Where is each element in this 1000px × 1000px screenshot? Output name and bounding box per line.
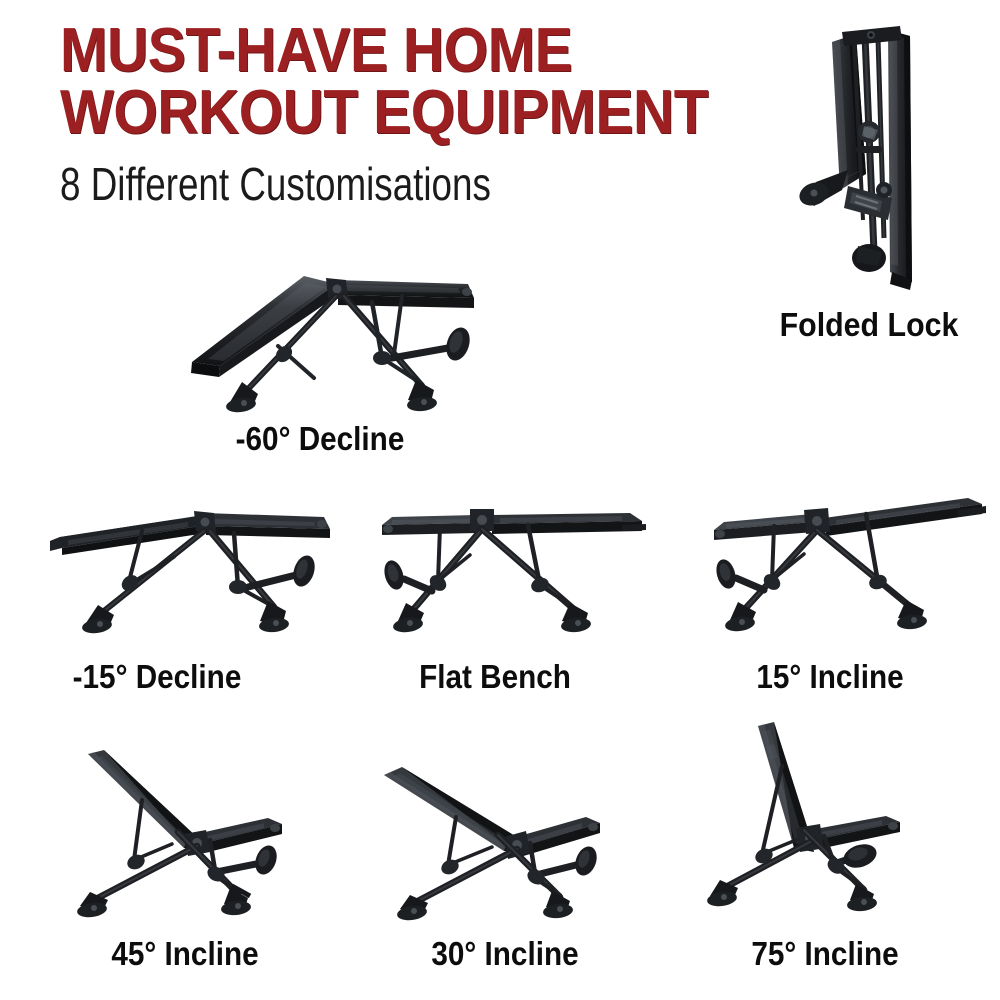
caption-folded-lock: Folded Lock bbox=[748, 306, 989, 344]
foot-left bbox=[392, 603, 424, 634]
folded-lock-illustration bbox=[770, 14, 980, 299]
bench-illustration-75-incline bbox=[700, 718, 980, 918]
bench-svg-15-incline bbox=[700, 488, 1000, 640]
page-title-line-1: MUST-HAVE HOME bbox=[60, 22, 722, 80]
caption--60-decline: -60° Decline bbox=[176, 420, 464, 458]
adjustment-knob[interactable] bbox=[392, 324, 474, 363]
adjustment-knob[interactable] bbox=[381, 558, 432, 592]
bench-illustration-45-incline bbox=[60, 748, 340, 913]
seat-pad-left bbox=[714, 514, 814, 540]
folded-backrest-pad bbox=[888, 30, 912, 282]
bench-svg-45-incline bbox=[60, 748, 340, 913]
folded-foot-lower bbox=[852, 244, 886, 272]
bench-svg--60-decline bbox=[186, 262, 496, 427]
adjustment-knob[interactable] bbox=[216, 842, 281, 877]
seat-pad bbox=[810, 816, 900, 850]
folded-foot-upper bbox=[796, 170, 848, 209]
bench-illustration-15-incline bbox=[700, 488, 1000, 640]
caption-15-incline: 15° Incline bbox=[682, 658, 979, 696]
leg-frame bbox=[412, 525, 576, 611]
joint-clamps bbox=[119, 572, 247, 594]
foot-right bbox=[542, 891, 573, 920]
foot-right bbox=[220, 886, 251, 917]
adjustment-knob[interactable] bbox=[713, 557, 764, 591]
bench-svg-75-incline bbox=[700, 718, 980, 918]
infographic-page: MUST-HAVE HOME WORKOUT EQUIPMENT 8 Diffe… bbox=[0, 0, 1000, 1000]
foot-right bbox=[406, 380, 437, 413]
folded-bench-svg bbox=[770, 14, 980, 299]
header-block: MUST-HAVE HOME WORKOUT EQUIPMENT 8 Diffe… bbox=[60, 22, 780, 208]
seat-pad bbox=[204, 513, 330, 538]
caption-flat-bench: Flat Bench bbox=[347, 658, 644, 696]
backrest-pad bbox=[382, 515, 478, 535]
foot-right bbox=[846, 884, 877, 913]
bench-illustration--60-decline bbox=[186, 262, 496, 427]
bench-illustration-30-incline bbox=[378, 755, 658, 915]
page-title-line-2: WORKOUT EQUIPMENT bbox=[60, 84, 722, 142]
folded-frame-tubes bbox=[854, 36, 884, 252]
bench-svg--15-decline bbox=[38, 495, 338, 640]
adjustment-knob[interactable] bbox=[248, 553, 318, 590]
seat-pad bbox=[336, 280, 474, 308]
foot-right bbox=[896, 600, 927, 631]
caption-75-incline: 75° Incline bbox=[677, 935, 974, 973]
foot-right bbox=[258, 601, 289, 634]
caption-45-incline: 45° Incline bbox=[37, 935, 334, 973]
backrest-pad bbox=[191, 276, 338, 377]
caption--15-decline: -15° Decline bbox=[9, 658, 306, 696]
foot-right bbox=[560, 603, 591, 634]
backrest-pad-incline bbox=[824, 498, 986, 536]
bench-illustration-flat bbox=[370, 495, 670, 640]
bench-illustration--15-decline bbox=[38, 495, 338, 640]
page-subtitle: 8 Different Customisations bbox=[60, 160, 636, 208]
seat-pad bbox=[490, 513, 646, 534]
caption-30-incline: 30° Incline bbox=[357, 935, 654, 973]
bench-svg-30-incline bbox=[378, 755, 658, 915]
bench-svg-flat bbox=[370, 495, 670, 640]
